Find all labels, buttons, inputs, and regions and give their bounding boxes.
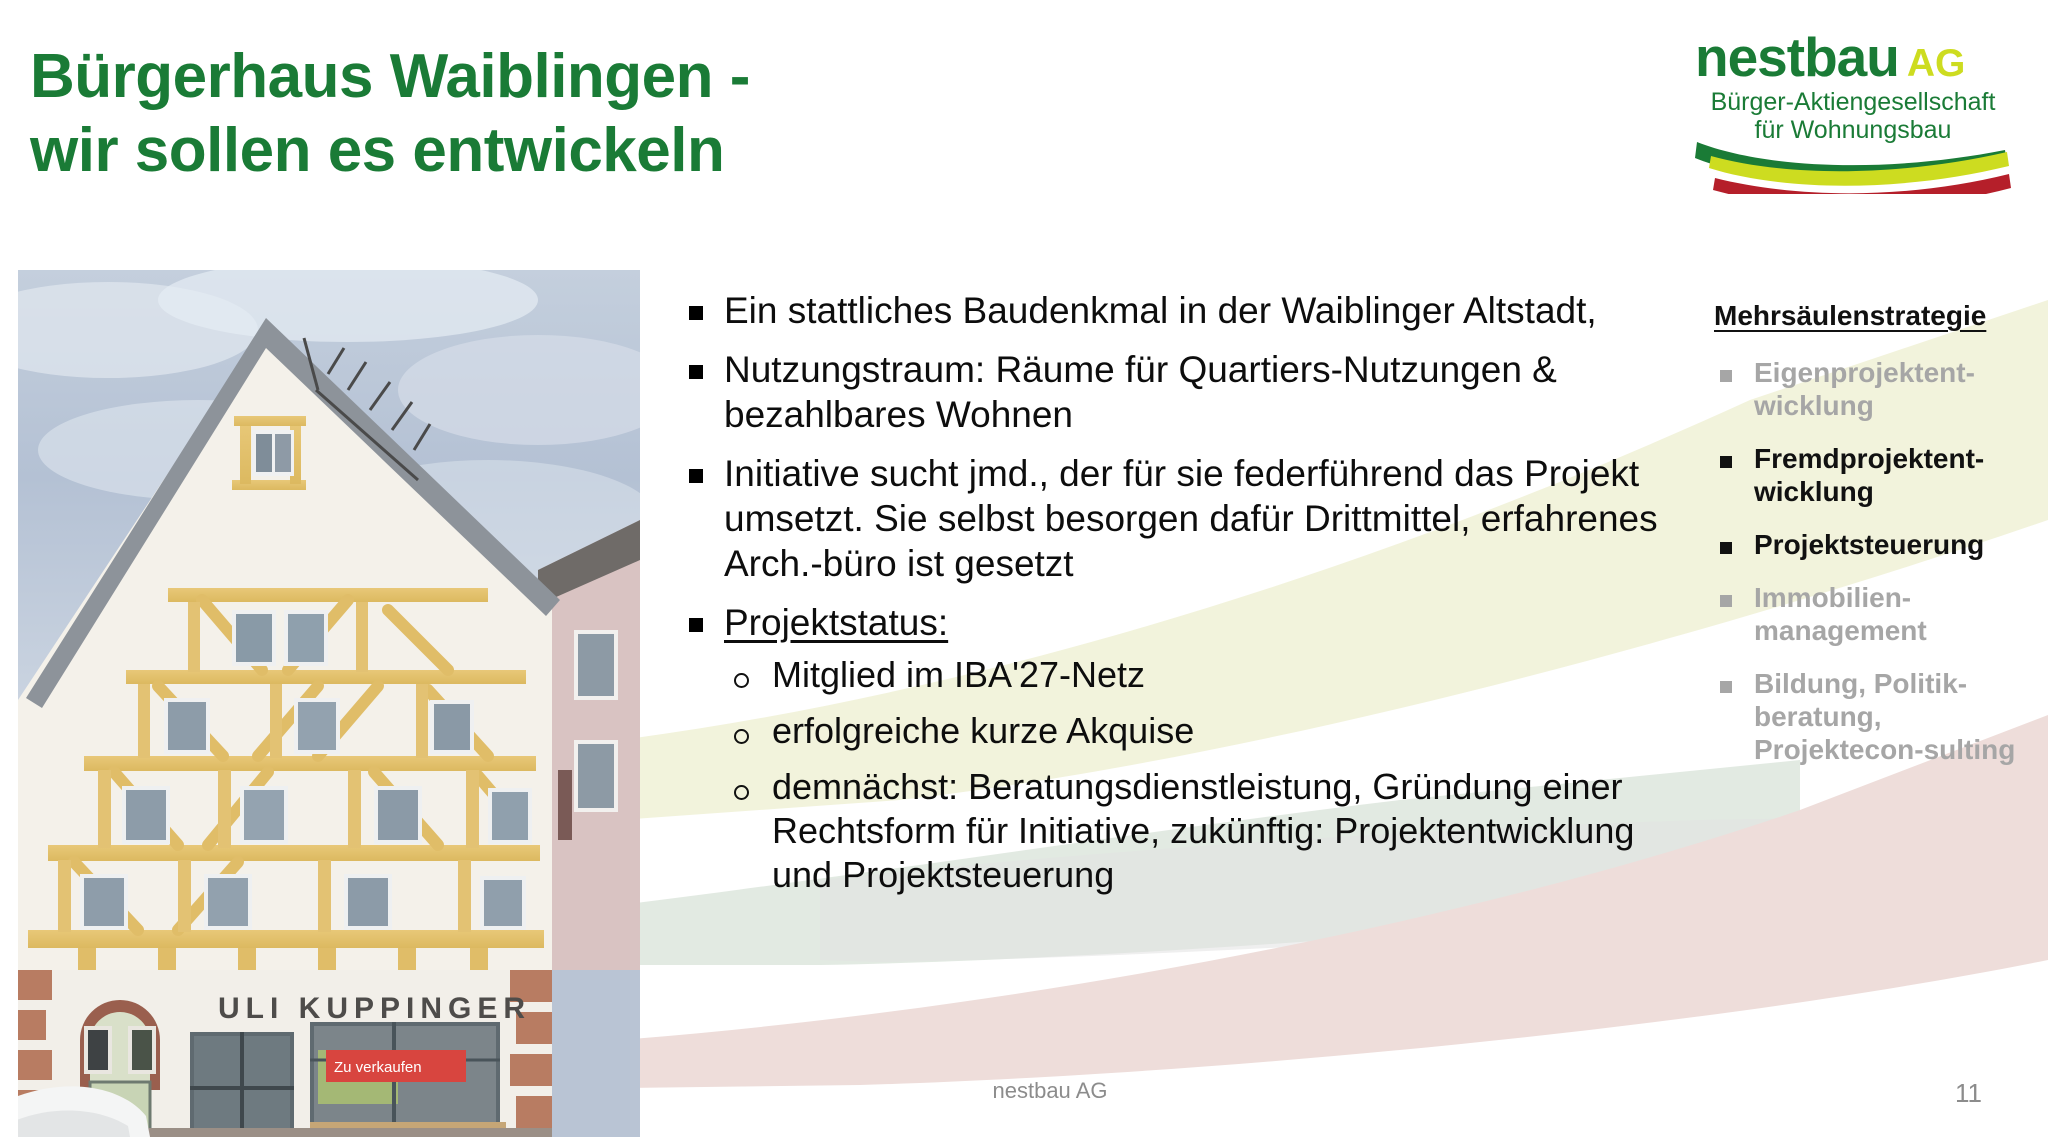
bullet-text: Nutzungstraum: Räume für Quartiers-Nutzu… bbox=[724, 349, 1557, 435]
bullet-text: Projektstatus: bbox=[724, 600, 948, 645]
square-bullet-icon bbox=[1720, 370, 1732, 382]
logo-wordmark: nestbauAG bbox=[1695, 30, 1965, 85]
square-bullet-icon bbox=[689, 306, 703, 320]
bullet-text: Initiative sucht jmd., der für sie feder… bbox=[724, 453, 1658, 584]
page-title: Bürgerhaus Waiblingen - wir sollen es en… bbox=[30, 40, 1270, 188]
bullet-item-projektstatus: Projektstatus: Mitglied im IBA'27-Netz e… bbox=[682, 600, 1662, 897]
sidebar-item-label: Bildung, Politik-beratung, Projektecon-s… bbox=[1754, 668, 2015, 765]
sub-bullet-text: erfolgreiche kurze Akquise bbox=[772, 710, 1194, 751]
square-bullet-icon bbox=[1720, 681, 1732, 693]
sidebar-item-bildung-politikberatung[interactable]: Bildung, Politik-beratung, Projektecon-s… bbox=[1694, 667, 2034, 766]
footer-page-number: 11 bbox=[1955, 1078, 1982, 1109]
title-line-2: wir sollen es entwickeln bbox=[30, 114, 1270, 188]
sub-bullet-text: demnächst: Beratungsdienstleistung, Grün… bbox=[772, 766, 1634, 895]
sub-bullet-item: demnächst: Beratungsdienstleistung, Grün… bbox=[724, 765, 1662, 897]
logo-swoosh-icon bbox=[1693, 134, 2013, 194]
sidebar-item-fremdprojektentwicklung[interactable]: Fremdprojektent-wicklung bbox=[1694, 442, 2034, 508]
sidebar-item-projektsteuerung[interactable]: Projektsteuerung bbox=[1694, 528, 2034, 561]
sidebar-item-immobilienmanagement[interactable]: Immobilien-management bbox=[1694, 581, 2034, 647]
bullet-item: Initiative sucht jmd., der für sie feder… bbox=[682, 451, 1662, 586]
bullet-item: Nutzungstraum: Räume für Quartiers-Nutzu… bbox=[682, 347, 1662, 437]
square-bullet-icon bbox=[1720, 595, 1732, 607]
footer-company-name: nestbau AG bbox=[940, 1078, 1160, 1104]
window-banner-text: Zu verkaufen bbox=[334, 1059, 422, 1076]
mehrsaeulenstrategie-panel: Mehrsäulenstrategie Eigenprojektent-wick… bbox=[1694, 300, 2034, 786]
sub-bullet-item: erfolgreiche kurze Akquise bbox=[724, 709, 1662, 753]
nestbau-logo: nestbauAG Bürger-Aktiengesellschaft für … bbox=[1693, 22, 2013, 194]
square-bullet-icon bbox=[1720, 456, 1732, 468]
square-bullet-icon bbox=[689, 469, 703, 483]
square-bullet-icon bbox=[1720, 542, 1732, 554]
sidebar-item-label: Immobilien-management bbox=[1754, 582, 1927, 646]
sidebar-item-label: Fremdprojektent-wicklung bbox=[1754, 443, 1984, 507]
bullet-item: Ein stattliches Baudenkmal in der Waibli… bbox=[682, 288, 1662, 333]
sub-bullet-list: Mitglied im IBA'27-Netz erfolgreiche kur… bbox=[724, 653, 1662, 897]
shop-sign-text: ULI KUPPINGER bbox=[218, 992, 531, 1025]
sidebar-item-label: Projektsteuerung bbox=[1754, 529, 1984, 560]
circle-bullet-icon bbox=[734, 673, 749, 688]
logo-ag-text: AG bbox=[1907, 42, 1966, 85]
title-line-1: Bürgerhaus Waiblingen - bbox=[30, 40, 1270, 114]
sidebar-heading: Mehrsäulenstrategie bbox=[1714, 300, 1986, 332]
sidebar-item-eigenprojektentwicklung[interactable]: Eigenprojektent-wicklung bbox=[1694, 356, 2034, 422]
square-bullet-icon bbox=[689, 618, 703, 632]
logo-nestbau-text: nestbau bbox=[1695, 26, 1899, 88]
sub-bullet-item: Mitglied im IBA'27-Netz bbox=[724, 653, 1662, 697]
logo-subtitle-line-1: Bürger-Aktiengesellschaft bbox=[1693, 88, 2013, 116]
sub-bullet-text: Mitglied im IBA'27-Netz bbox=[772, 654, 1145, 695]
square-bullet-icon bbox=[689, 365, 703, 379]
main-bullet-list: Ein stattliches Baudenkmal in der Waibli… bbox=[682, 288, 1662, 911]
circle-bullet-icon bbox=[734, 785, 749, 800]
bullet-text: Ein stattliches Baudenkmal in der Waibli… bbox=[724, 290, 1597, 331]
presentation-slide: Bürgerhaus Waiblingen - wir sollen es en… bbox=[0, 0, 2048, 1137]
circle-bullet-icon bbox=[734, 729, 749, 744]
building-photo: ULI KUPPINGER Zu verkaufen bbox=[18, 270, 640, 1137]
sidebar-item-label: Eigenprojektent-wicklung bbox=[1754, 357, 1975, 421]
